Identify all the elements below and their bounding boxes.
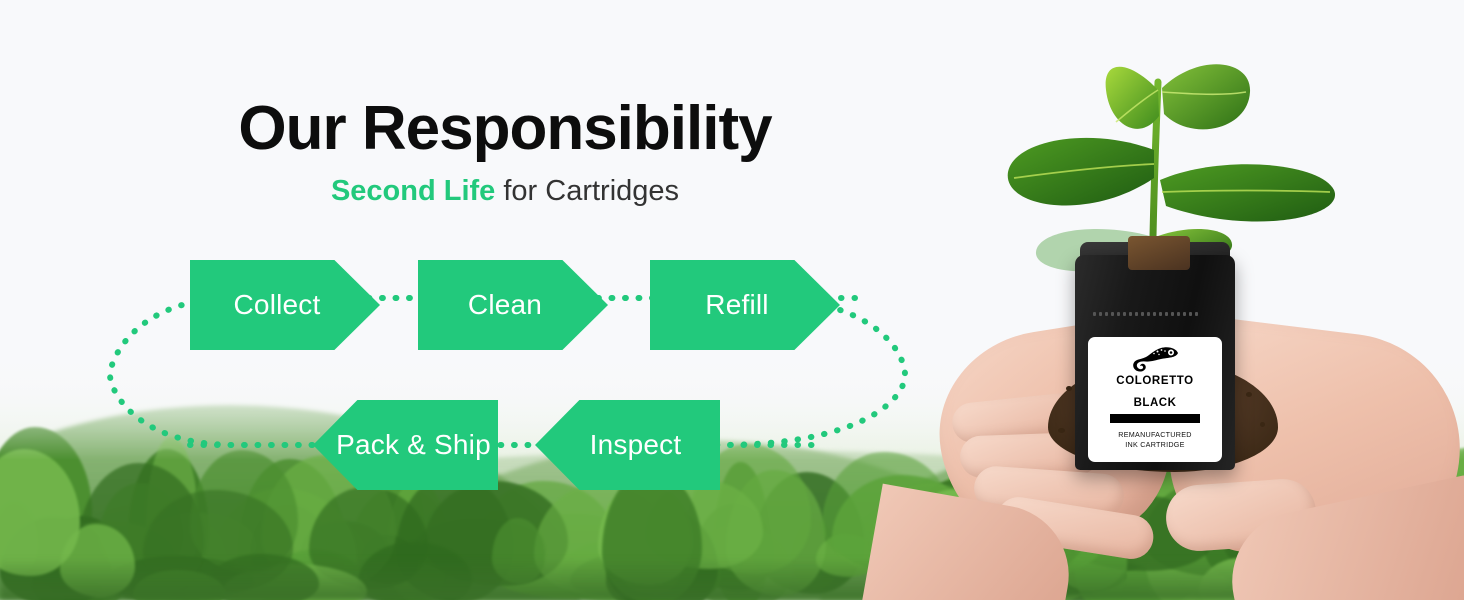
soil-speck xyxy=(1260,422,1265,427)
page-title: Our Responsibility xyxy=(0,96,1010,161)
vent-slot xyxy=(1165,312,1168,316)
vent-slot xyxy=(1189,312,1192,316)
cartridge-color-name: BLACK xyxy=(1134,397,1177,409)
chameleon-icon xyxy=(1130,344,1180,374)
vent-slot xyxy=(1111,312,1114,316)
vent-slot xyxy=(1099,312,1102,316)
vent-slot xyxy=(1141,312,1144,316)
color-swatch-bar xyxy=(1110,414,1200,423)
vent-slot xyxy=(1093,312,1096,316)
vent-slot xyxy=(1159,312,1162,316)
cartridge-vents xyxy=(1093,312,1217,328)
vent-slot xyxy=(1117,312,1120,316)
soil-speck xyxy=(1246,392,1252,397)
description-line-1: REMANUFACTURED xyxy=(1118,430,1191,439)
brand-name: COLORETTO xyxy=(1116,375,1193,387)
vent-slot xyxy=(1135,312,1138,316)
soil-speck xyxy=(1058,428,1065,433)
vent-slot xyxy=(1171,312,1174,316)
cartridge-top-soil xyxy=(1128,236,1190,270)
page-subtitle: Second Life for Cartridges xyxy=(0,174,1010,209)
cycle-step-label: Refill xyxy=(705,289,768,321)
vent-slot xyxy=(1177,312,1180,316)
cartridge-description: REMANUFACTURED INK CARTRIDGE xyxy=(1118,430,1191,449)
cycle-step-label: Pack & Ship xyxy=(336,429,491,461)
vent-slot xyxy=(1147,312,1150,316)
vent-slot xyxy=(1105,312,1108,316)
vent-slot xyxy=(1123,312,1126,316)
cycle-step-label: Collect xyxy=(234,289,321,321)
lifecycle-diagram: CollectCleanRefillInspectPack & Ship xyxy=(100,250,940,500)
vent-slot xyxy=(1195,312,1198,316)
soil-speck xyxy=(1066,386,1072,391)
vent-slot xyxy=(1183,312,1186,316)
cycle-step-label: Clean xyxy=(468,289,542,321)
description-line-2: INK CARTRIDGE xyxy=(1125,440,1184,449)
cartridge-label: COLORETTO BLACK REMANUFACTURED INK CARTR… xyxy=(1088,337,1222,462)
vent-slot xyxy=(1153,312,1156,316)
cycle-step-label: Inspect xyxy=(590,429,682,461)
product-photo: COLORETTO BLACK REMANUFACTURED INK CARTR… xyxy=(930,30,1464,600)
subtitle-accent-text: Second Life xyxy=(331,175,495,207)
vent-slot xyxy=(1129,312,1132,316)
subtitle-rest-text: for Cartridges xyxy=(495,175,679,207)
responsibility-banner: /* canopy blobs injected below */ Our Re… xyxy=(0,0,1464,600)
